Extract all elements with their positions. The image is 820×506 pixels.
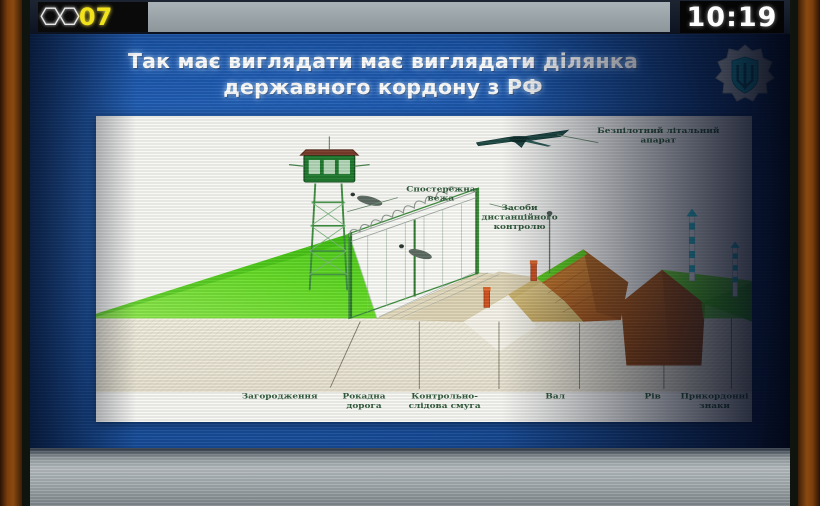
slide-title-line-2: державного кордону з РФ [86,74,680,100]
tv-bezel-inner-right [790,0,798,506]
studio-desk-strip [30,448,790,506]
tv-bezel-right [798,0,820,506]
callout-tower-line2: вежа [428,193,455,202]
tv-screen-photo: Так має виглядати має виглядати ділянка … [0,0,820,506]
clock-time: 10:19 [687,2,778,33]
border-guard-emblem-icon [714,44,776,106]
tv-screen: Так має виглядати має виглядати ділянка … [30,0,790,506]
callout-tower-line1: Спостережна [406,184,476,193]
channel-logo: ⎔⎔ 07 [38,2,148,32]
clock-widget: 10:19 [680,1,784,33]
slide-title: Так має виглядати має виглядати ділянка … [86,48,680,100]
presentation-backdrop: Так має виглядати має виглядати ділянка … [30,34,790,448]
broadcast-top-band: ⎔⎔ 07 10:19 [30,0,790,34]
callout-uav-line2: апарат [641,135,677,144]
tv-bezel-left [0,0,22,506]
callout-remote-line1: Засоби [502,203,538,212]
channel-logo-mark: ⎔⎔ [40,5,78,29]
ground-label-road-line2: дорога [346,401,382,410]
ground-label-rampart-line1: Вал [545,391,565,400]
callout-remote-line3: контролю [494,222,547,231]
tv-bezel-inner-left [22,0,30,506]
border-section-schematic: Безпілотний літальний апарат Спостережна… [96,116,752,422]
ground-label-markers-line2: знаки [699,401,730,410]
ground-label-ditch-line1: Рів [645,391,662,400]
callout-uav-line1: Безпілотний літальний [597,126,719,135]
callout-remote-line2: дистанційного [482,212,559,221]
ground-label-road-line1: Рокадна [343,391,387,400]
ground-label-markers-line1: Прикордонні [680,391,748,400]
ground-label-trace-line1: Контрольно- [411,391,478,400]
channel-logo-number: 07 [79,5,112,29]
slide-title-line-1: Так має виглядати має виглядати ділянка [86,48,680,74]
top-band-filler [148,2,670,32]
ground-label-trace-line2: слідова смуга [409,401,482,410]
ground-label-barrier-line1: Загородження [242,391,318,400]
slide-diagram-card: Безпілотний літальний апарат Спостережна… [96,116,752,422]
